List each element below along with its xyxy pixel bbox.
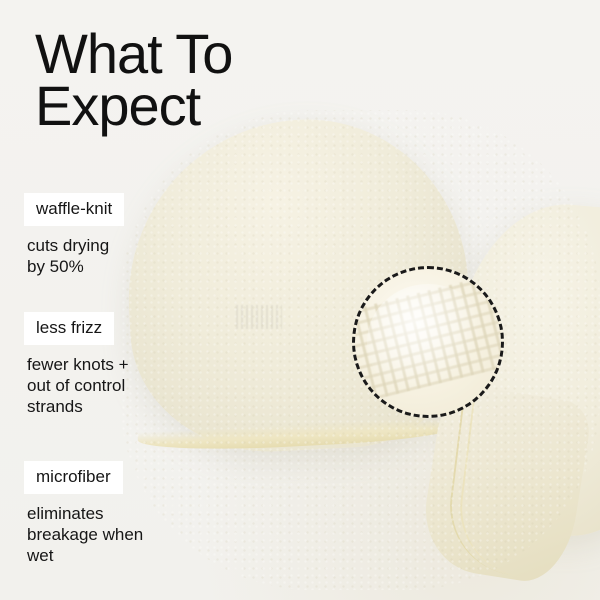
feature-chip-label: microfiber [24, 461, 123, 494]
feature-item-microfiber: microfiber eliminates breakage when wet [24, 461, 284, 566]
feature-description: eliminates breakage when wet [27, 503, 284, 566]
feature-description: cuts drying by 50% [27, 235, 284, 277]
detail-highlight [367, 284, 490, 401]
zoom-detail-circle [352, 266, 504, 418]
feature-item-waffle-knit: waffle-knit cuts drying by 50% [24, 193, 284, 277]
feature-chip-label: waffle-knit [24, 193, 124, 226]
feature-description: fewer knots + out of control strands [27, 354, 284, 417]
page-title: What To Expect [35, 28, 232, 132]
feature-chip-label: less frizz [24, 312, 114, 345]
feature-item-less-frizz: less frizz fewer knots + out of control … [24, 312, 284, 417]
product-feature-image: What To Expect waffle-knit cuts drying b… [0, 0, 600, 600]
